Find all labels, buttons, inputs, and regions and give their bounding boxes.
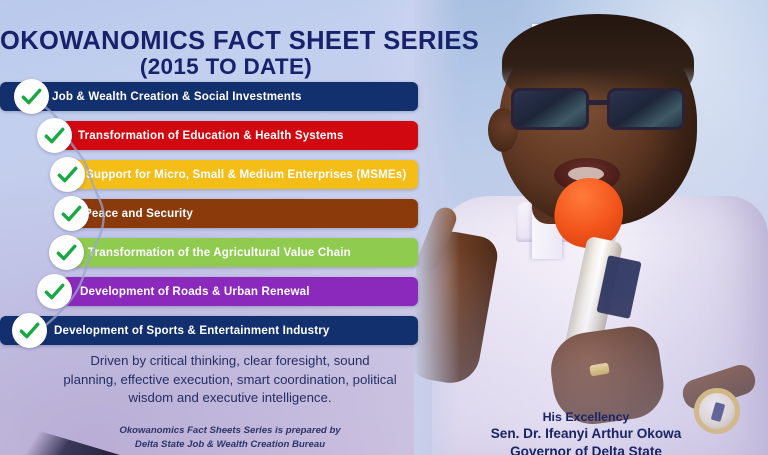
check-badge	[14, 79, 49, 114]
check-badge	[12, 313, 47, 348]
page-subtitle: (2015 TO DATE)	[0, 54, 452, 80]
check-icon	[56, 163, 79, 186]
check-icon	[43, 124, 66, 147]
check-badge	[49, 235, 84, 270]
pillar-label: Transformation of the Agricultural Value…	[88, 246, 351, 259]
governor-photo	[414, 0, 768, 455]
prepared-by-credit: Okowanomics Fact Sheets Series is prepar…	[62, 424, 398, 451]
check-icon	[20, 85, 43, 108]
check-icon	[60, 202, 83, 225]
governor-credit: His Excellency Sen. Dr. Ifeanyi Arthur O…	[404, 409, 768, 455]
check-icon	[55, 241, 78, 264]
pillar-bar[interactable]: Support for Micro, Small & Medium Enterp…	[72, 160, 418, 189]
prepared-by-line-1: Okowanomics Fact Sheets Series is prepar…	[62, 424, 398, 438]
pillar-bar[interactable]: Transformation of the Agricultural Value…	[68, 238, 418, 267]
check-badge	[37, 118, 72, 153]
check-badge	[54, 196, 89, 231]
check-badge	[37, 274, 72, 309]
pillar-label: Support for Micro, Small & Medium Enterp…	[86, 168, 406, 181]
tagline-text: Driven by critical thinking, clear fores…	[62, 352, 398, 408]
credit-line-2: Sen. Dr. Ifeanyi Arthur Okowa	[404, 425, 768, 443]
photo-haze-overlay	[414, 0, 768, 455]
check-icon	[18, 319, 41, 342]
credit-line-1: His Excellency	[404, 409, 768, 425]
prepared-by-line-2: Delta State Job & Wealth Creation Bureau	[62, 438, 398, 452]
check-badge	[50, 157, 85, 192]
credit-line-3: Governor of Delta State	[404, 443, 768, 455]
fact-sheet-poster: OKOWANOMICS FACT SHEET SERIES (2015 TO D…	[0, 0, 768, 455]
page-title: OKOWANOMICS FACT SHEET SERIES	[0, 28, 452, 54]
check-icon	[43, 280, 66, 303]
